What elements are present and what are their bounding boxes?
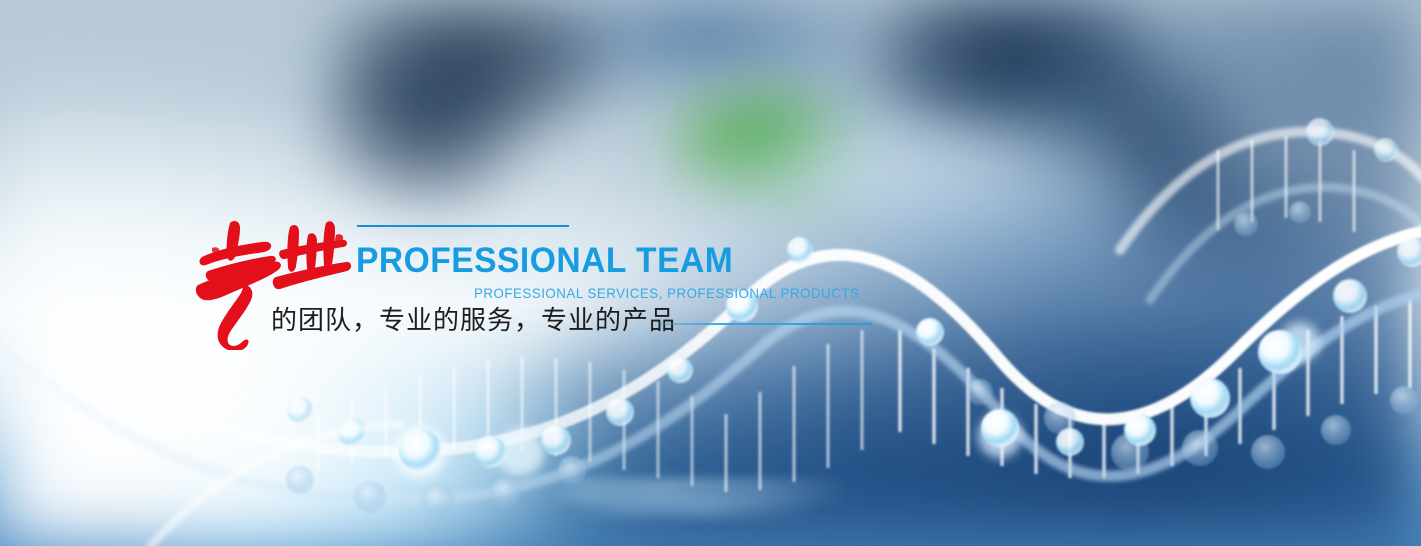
professional-team-banner: PROFESSIONAL TEAM PROFESSIONAL SERVICES,… <box>0 0 1421 546</box>
decorative-rule-top <box>357 225 569 227</box>
decorative-rule-bottom <box>658 323 872 325</box>
banner-copy: PROFESSIONAL TEAM PROFESSIONAL SERVICES,… <box>0 0 1421 546</box>
page-title: PROFESSIONAL TEAM <box>356 243 733 278</box>
chinese-tagline: 的团队，专业的服务，专业的产品 <box>271 306 676 337</box>
subtitle: PROFESSIONAL SERVICES, PROFESSIONAL PROD… <box>474 286 859 300</box>
